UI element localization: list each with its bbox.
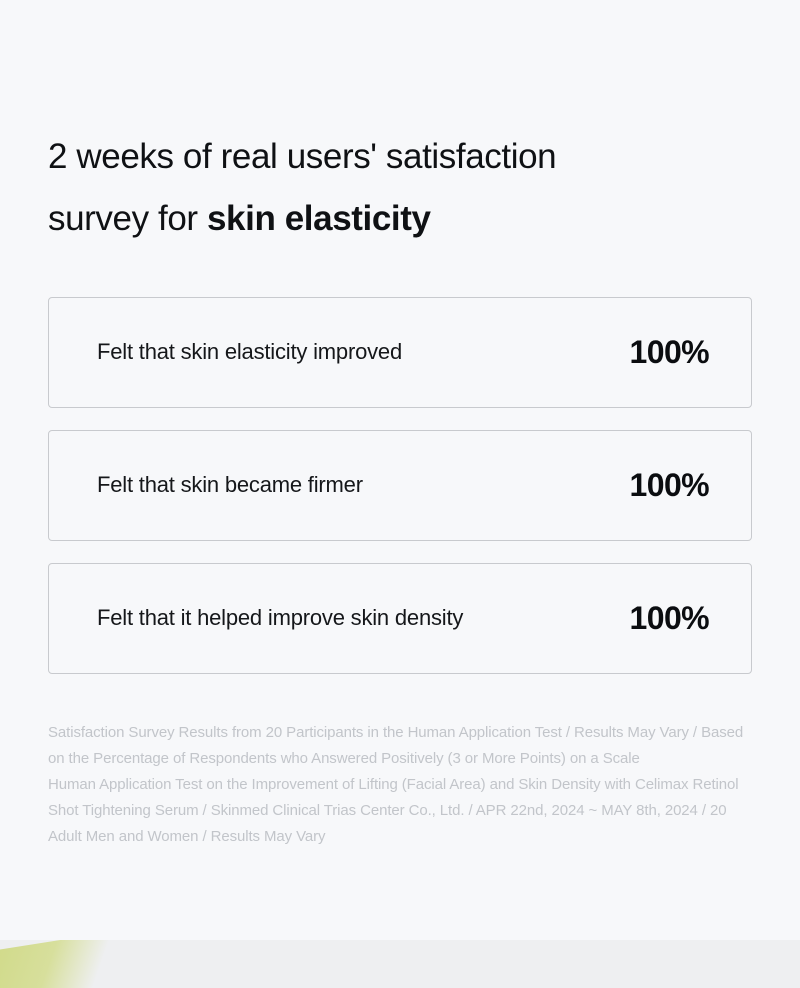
page-title-line1: 2 weeks of real users' satisfaction: [48, 137, 556, 176]
stat-card-label: Felt that skin became firmer: [49, 471, 630, 500]
disclaimer-block: Satisfaction Survey Results from 20 Part…: [48, 720, 752, 850]
stat-card: Felt that it helped improve skin density…: [48, 563, 752, 674]
stat-card-label: Felt that skin elasticity improved: [49, 338, 630, 367]
disclaimer-text: Human Application Test on the Improvemen…: [48, 772, 752, 850]
stat-card-list: Felt that skin elasticity improved 100% …: [48, 297, 752, 674]
stat-card-value: 100%: [630, 334, 751, 371]
page-title-line2-prefix: survey for: [48, 199, 207, 238]
survey-content: 2 weeks of real users' satisfaction surv…: [48, 0, 752, 850]
page-title-highlight: skin elasticity: [207, 199, 431, 238]
disclaimer-text: Satisfaction Survey Results from 20 Part…: [48, 720, 752, 772]
next-section-peek: [0, 940, 800, 988]
page-title: 2 weeks of real users' satisfaction surv…: [48, 0, 752, 251]
stat-card: Felt that skin became firmer 100%: [48, 430, 752, 541]
survey-section: 2 weeks of real users' satisfaction surv…: [0, 0, 800, 940]
stat-card: Felt that skin elasticity improved 100%: [48, 297, 752, 408]
leaf-accent-shape: [0, 940, 138, 988]
stat-card-label: Felt that it helped improve skin density: [49, 604, 630, 633]
stat-card-value: 100%: [630, 467, 751, 504]
stat-card-value: 100%: [630, 600, 751, 637]
